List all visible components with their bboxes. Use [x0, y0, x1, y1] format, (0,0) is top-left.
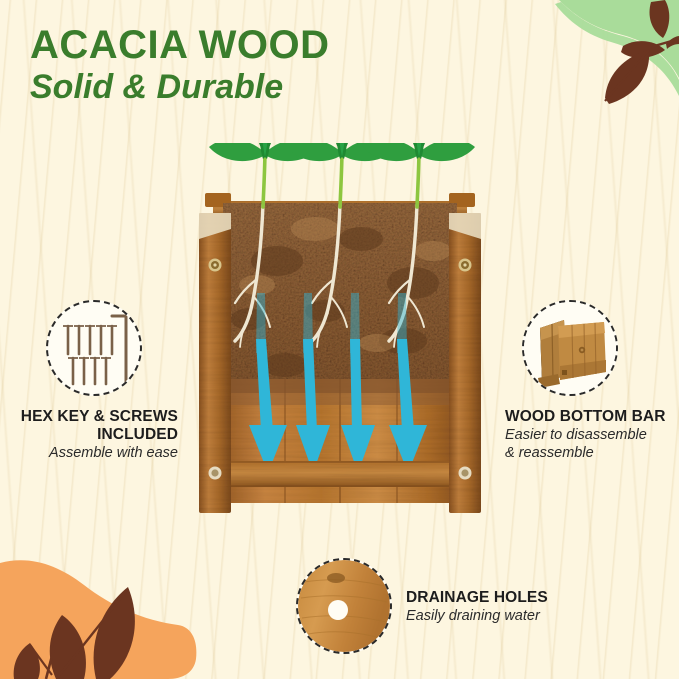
brown-leaf-cluster-icon	[605, 0, 679, 104]
callout-subtitle: Assemble with ease	[8, 445, 178, 462]
callout-icon-circle	[296, 558, 392, 654]
brown-leaf-cluster-icon	[14, 587, 135, 679]
infographic-canvas: ACACIA WOOD Solid & Durable	[0, 0, 679, 679]
screws-and-hex-key-icon	[48, 302, 140, 394]
drainage-hole-disc-icon	[298, 560, 390, 652]
callout-text: WOOD BOTTOM BAR Easier to disassemble & …	[505, 408, 677, 462]
screw-icon	[209, 467, 222, 480]
callout-icon-circle	[522, 300, 618, 396]
drainage-hole	[328, 600, 348, 620]
planter-box-illustration	[165, 143, 515, 553]
callout-text: HEX KEY & SCREWS INCLUDED Assemble with …	[8, 408, 184, 463]
callout-title: HEX KEY & SCREWS INCLUDED	[8, 408, 178, 444]
orange-blob-shape	[0, 560, 196, 679]
screw-icon	[459, 259, 472, 272]
callout-wood-bottom-bar: WOOD BOTTOM BAR Easier to disassemble & …	[505, 300, 677, 462]
planter-bottom-rail	[223, 461, 457, 487]
callout-subtitle: Easier to disassemble & reassemble	[505, 427, 677, 462]
callout-hex-key-screws: HEX KEY & SCREWS INCLUDED Assemble with …	[8, 300, 184, 463]
callout-title: DRAINAGE HOLES	[406, 589, 548, 607]
green-blob-shape	[559, 0, 679, 78]
page-title: ACACIA WOOD	[30, 24, 330, 66]
callout-subtitle: Easily draining water	[406, 608, 548, 625]
planter-corner-post-left	[199, 213, 231, 513]
screw-icon	[459, 467, 472, 480]
callout-text: DRAINAGE HOLES Easily draining water	[406, 587, 548, 626]
headline-block: ACACIA WOOD Solid & Durable	[30, 24, 330, 107]
page-subtitle: Solid & Durable	[30, 68, 330, 107]
callout-title: WOOD BOTTOM BAR	[505, 408, 677, 426]
screw-icon	[209, 259, 222, 272]
callout-drainage-holes: DRAINAGE HOLES Easily draining water	[296, 558, 596, 654]
callout-icon-circle	[46, 300, 142, 396]
planter-corner-post-right	[449, 213, 481, 513]
wood-bottom-bar-photo-icon	[524, 302, 616, 394]
top-right-decoration	[499, 0, 679, 125]
